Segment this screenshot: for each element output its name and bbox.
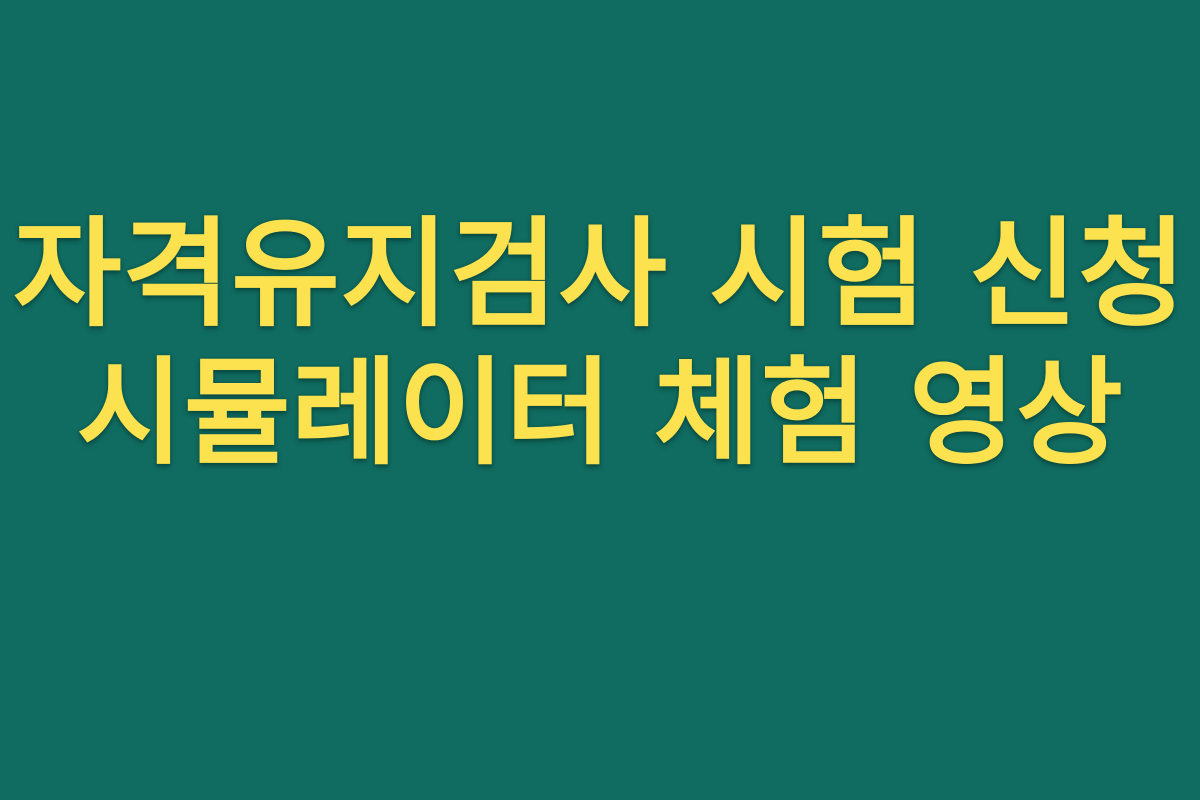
banner-container: 자격유지검사 시험 신청 시뮬레이터 체험 영상 — [0, 0, 1200, 800]
banner-title-block: 자격유지검사 시험 신청 시뮬레이터 체험 영상 — [0, 204, 1200, 484]
banner-title-line-1: 자격유지검사 시험 신청 — [0, 204, 1200, 344]
banner-title-line-2: 시뮬레이터 체험 영상 — [0, 344, 1200, 484]
